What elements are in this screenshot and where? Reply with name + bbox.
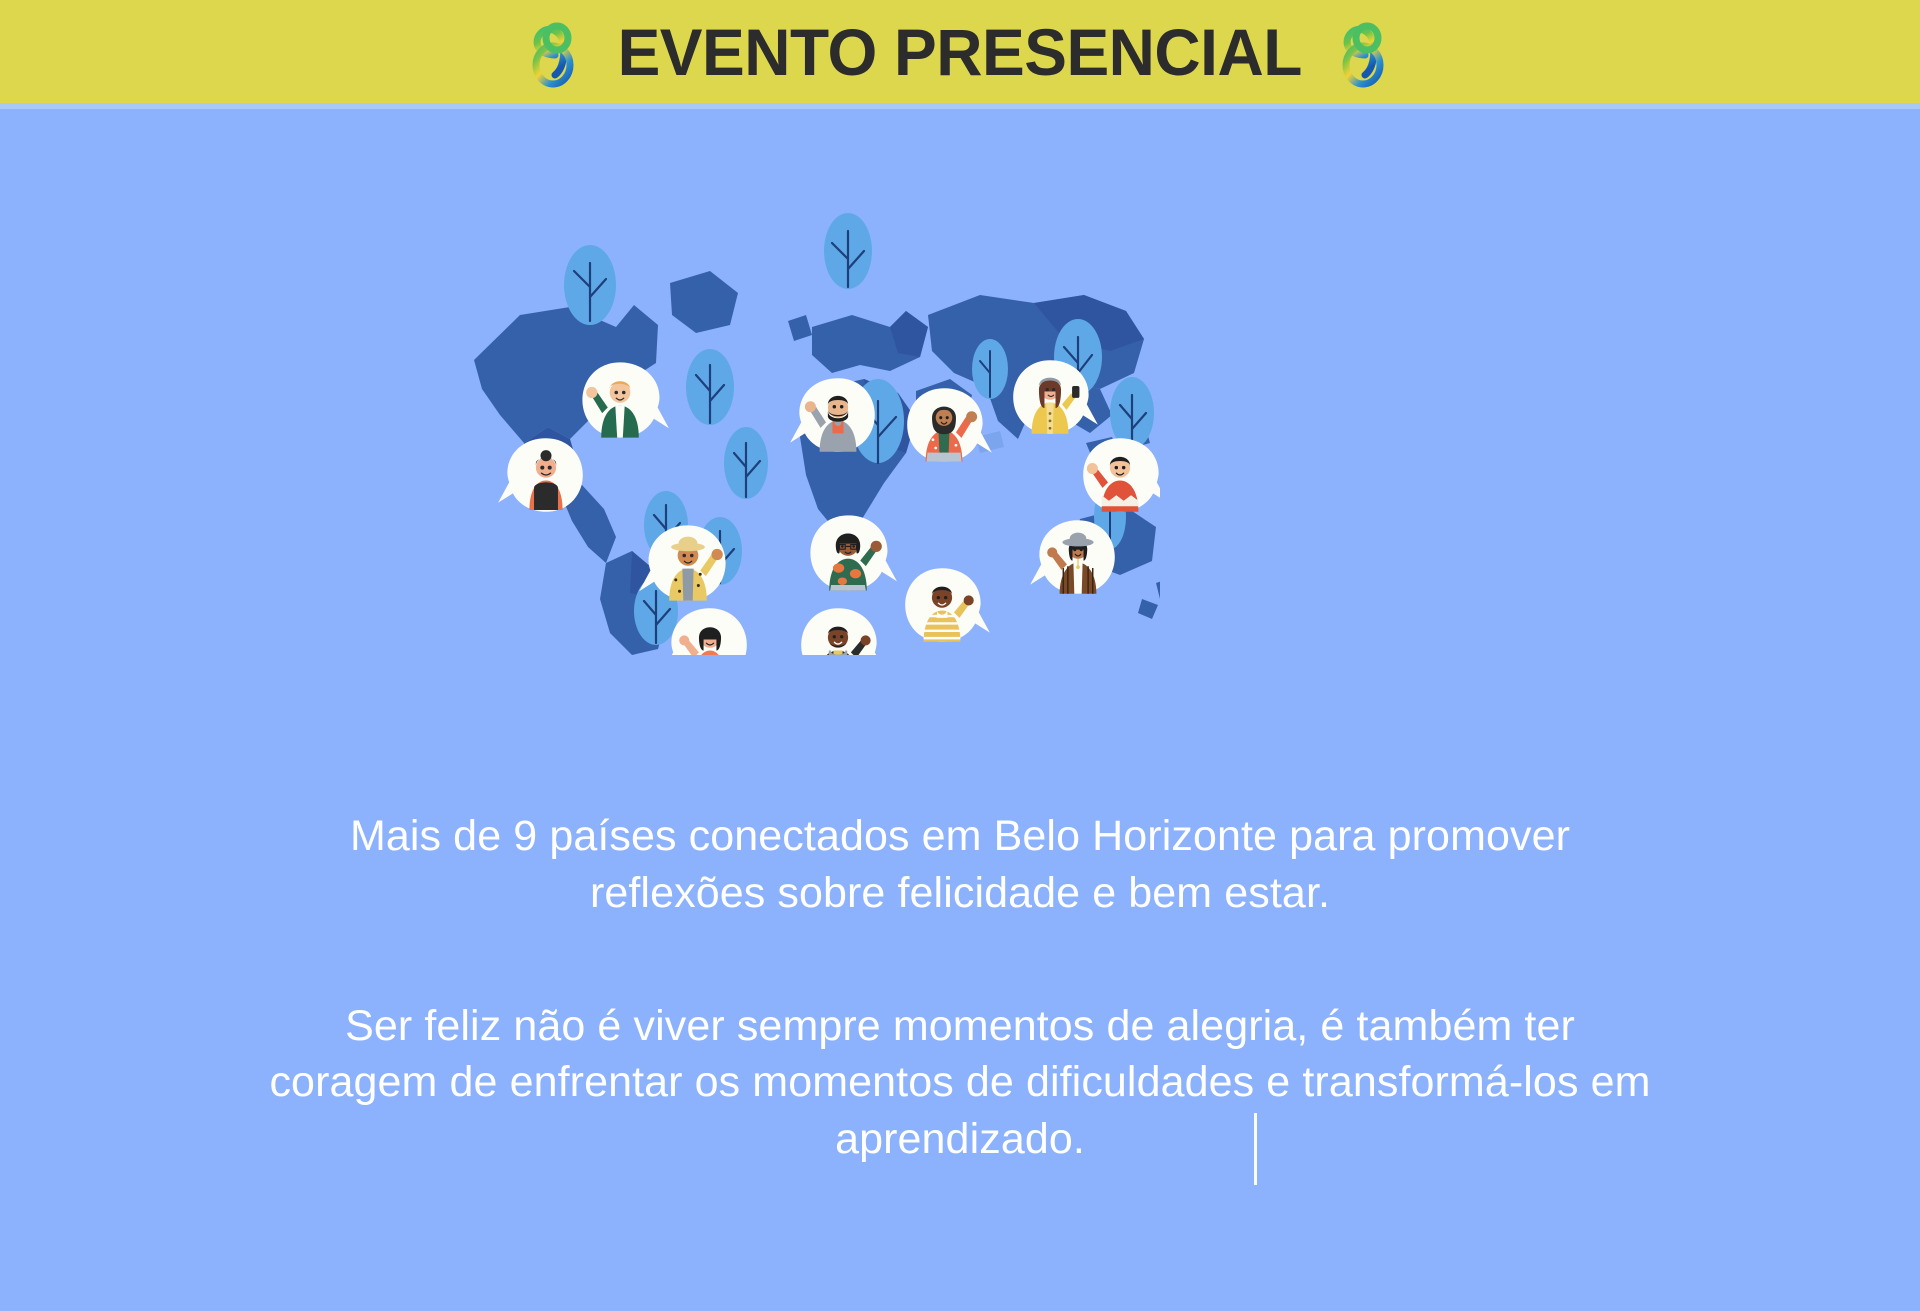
person-north-america-man-green bbox=[582, 362, 668, 437]
slide-canvas: EVENTO PRESENCIAL bbox=[0, 0, 1920, 1311]
person-oceania-woman-hat bbox=[1030, 520, 1115, 594]
infinity-loop-icon-right bbox=[1339, 15, 1391, 89]
person-east-africa-man-stripes bbox=[905, 568, 990, 642]
text-cursor-caret bbox=[1254, 1113, 1257, 1185]
body-paragraph-2: Ser feliz não é viver sempre momentos de… bbox=[260, 998, 1660, 1168]
person-middle-east-woman-hijab bbox=[907, 388, 992, 462]
body-copy: Mais de 9 países conectados em Belo Hori… bbox=[260, 808, 1660, 1168]
infinity-loop-icon-left bbox=[529, 15, 581, 89]
page-title: EVENTO PRESENCIAL bbox=[618, 19, 1302, 85]
person-north-america-woman-bun bbox=[498, 438, 583, 512]
header-bar: EVENTO PRESENCIAL bbox=[0, 0, 1920, 103]
person-west-africa-man bbox=[801, 608, 886, 655]
person-asia-man-red bbox=[1083, 438, 1160, 512]
person-africa-woman-glasses bbox=[810, 515, 896, 590]
header-underline bbox=[0, 103, 1920, 109]
paragraph-spacer bbox=[260, 922, 1660, 998]
world-map-people-illustration bbox=[420, 175, 1160, 655]
body-paragraph-1: Mais de 9 países conectados em Belo Hori… bbox=[260, 808, 1660, 922]
